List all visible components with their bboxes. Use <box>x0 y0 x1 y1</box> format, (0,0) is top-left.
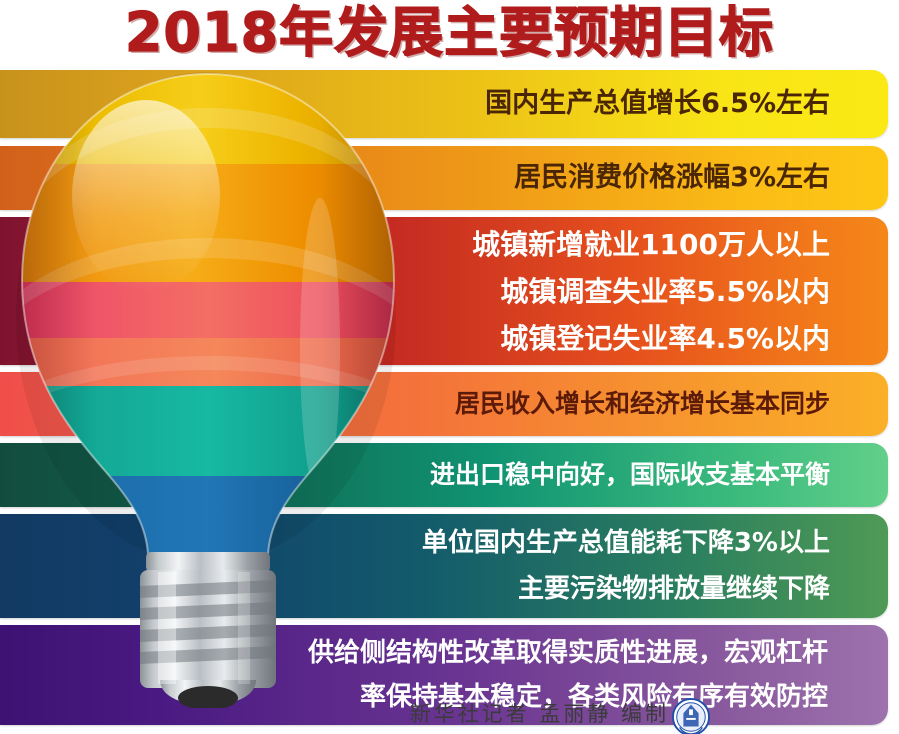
banner-line: 供给侧结构性改革取得实质性进展，宏观杠杆 <box>0 631 888 675</box>
banner-line: 城镇新增就业1100万人以上 <box>0 221 888 268</box>
banner-trade-balance: 进出口稳中向好，国际收支基本平衡 <box>0 443 888 507</box>
banner-line: 进出口稳中向好，国际收支基本平衡 <box>0 459 888 491</box>
banner-line: 城镇调查失业率5.5%以内 <box>0 268 888 315</box>
banner-line: 居民收入增长和经济增长基本同步 <box>0 388 888 420</box>
banner-cpi: 居民消费价格涨幅3%左右 <box>0 146 888 210</box>
banner-line: 居民消费价格涨幅3%左右 <box>0 161 888 195</box>
banner-line: 国内生产总值增长6.5%左右 <box>0 87 888 121</box>
banner-line: 单位国内生产总值能耗下降3%以上 <box>0 520 888 566</box>
page-title: 2018年发展主要预期目标 <box>0 2 899 64</box>
banner-line: 城镇登记失业率4.5%以内 <box>0 315 888 362</box>
banner-household-income: 居民收入增长和经济增长基本同步 <box>0 372 888 436</box>
xinhua-logo-icon <box>672 698 710 734</box>
banner-gdp-growth: 国内生产总值增长6.5%左右 <box>0 70 888 138</box>
credit-text: 新华社记者 孟丽静 编制 <box>410 698 669 728</box>
infographic-poster: 2018年发展主要预期目标 国内生产总值增长6.5%左右 居民消费价格涨幅3%左… <box>0 0 899 734</box>
banner-energy-environment: 单位国内生产总值能耗下降3%以上 主要污染物排放量继续下降 <box>0 514 888 618</box>
banner-employment: 城镇新增就业1100万人以上 城镇调查失业率5.5%以内 城镇登记失业率4.5%… <box>0 217 888 365</box>
footer: 新华社记者 孟丽静 编制 <box>0 692 899 734</box>
banner-list: 国内生产总值增长6.5%左右 居民消费价格涨幅3%左右 城镇新增就业1100万人… <box>0 70 899 690</box>
banner-line: 主要污染物排放量继续下降 <box>0 566 888 612</box>
